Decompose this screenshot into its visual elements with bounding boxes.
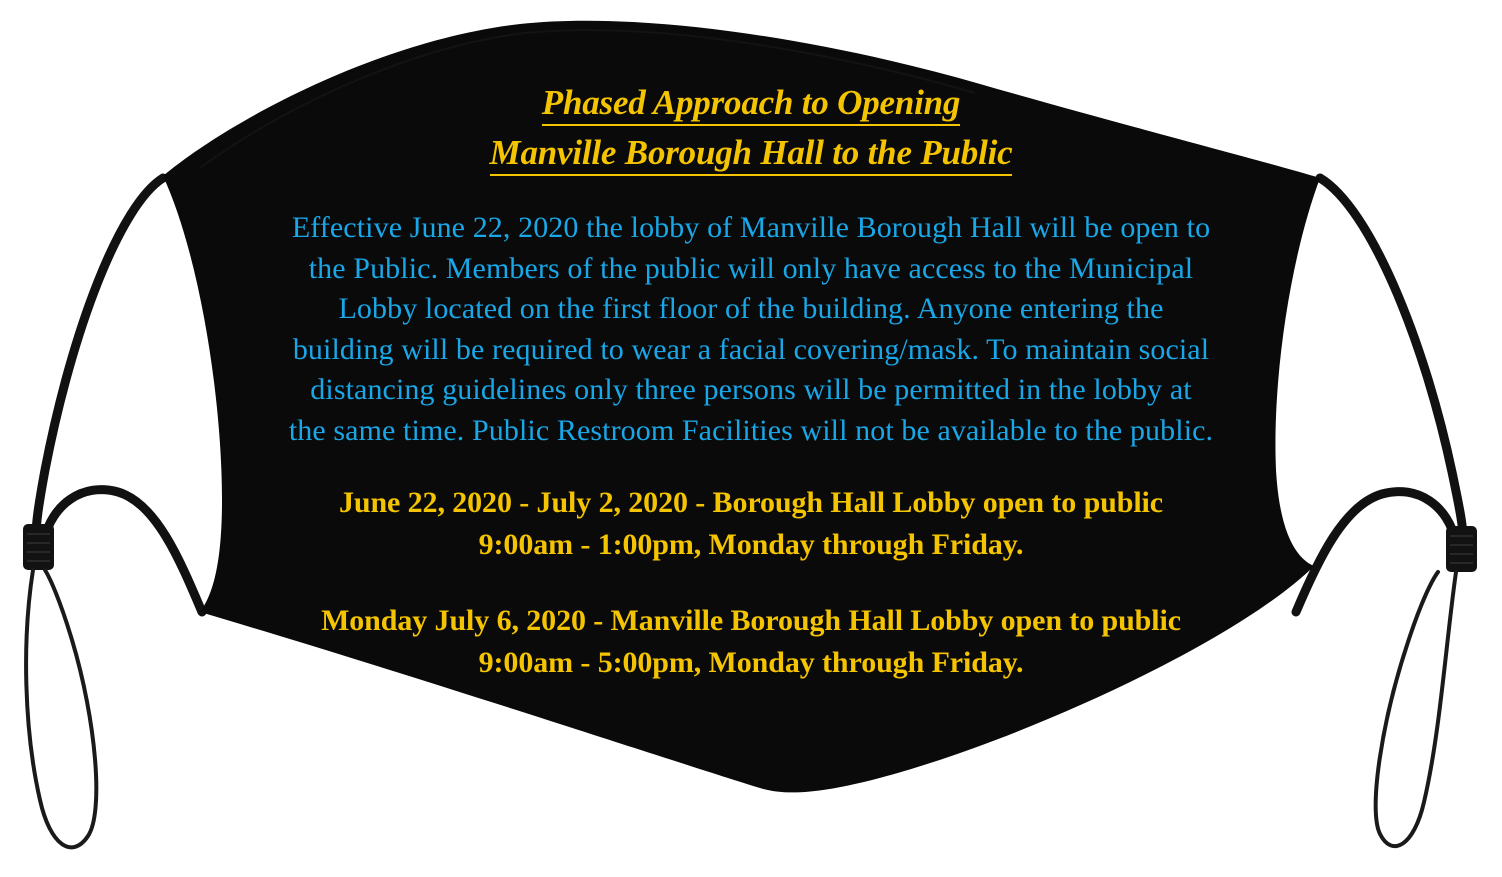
face-mask-illustration — [0, 0, 1502, 877]
left-cord-tail-loop — [26, 570, 96, 847]
left-ear-loop-lower-strap — [44, 490, 202, 612]
right-ear-loop-strap — [1320, 178, 1463, 538]
right-cord-adjuster-bead — [1446, 526, 1477, 572]
left-ear-loop-strap — [36, 178, 163, 536]
right-cord-tail-loop — [1376, 572, 1456, 846]
poster-canvas: Phased Approach to Opening Manville Boro… — [0, 0, 1502, 877]
left-cord-adjuster-bead — [23, 524, 54, 570]
mask-body — [163, 21, 1320, 793]
right-ear-loop-lower-strap — [1296, 492, 1456, 612]
